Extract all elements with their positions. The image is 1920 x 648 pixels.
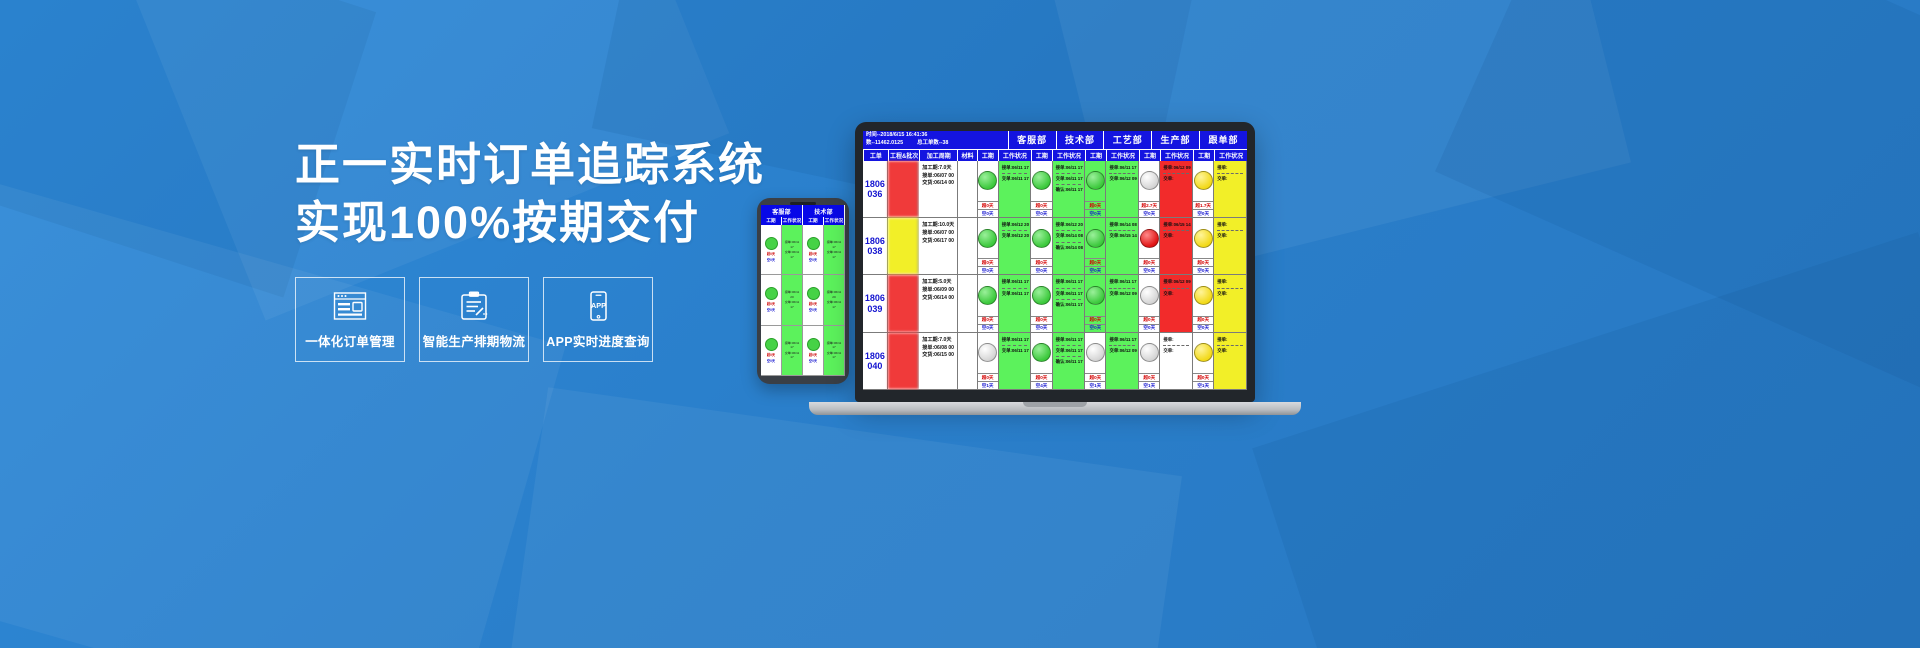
work-order-suffix: 036 [867,189,882,199]
project-batch-cell[interactable] [888,275,920,331]
table-row[interactable]: 1806038加工期:10.0天接单:06/07 00交货:06/17 00超0… [863,218,1247,275]
dept-status-cell[interactable]: 接单:06/11 17交单:06/12 09 [1106,275,1139,331]
note-separator [1056,345,1082,346]
dept-duration-cell[interactable]: 超0天空0天 [1193,218,1214,274]
dept-header-merchandising: 跟单部 [1199,131,1247,149]
over-tag: 超0天 [809,352,817,357]
status-indicator [1139,333,1159,373]
status-indicator [1193,275,1213,315]
over-tag: 超0天 [767,301,775,306]
dept-duration-cell[interactable]: 超0天空0天 [978,161,999,217]
dept-note: 交单:06/11 17 [1056,290,1085,298]
work-order-prefix: 1806 [865,179,885,189]
dept-duration-cell[interactable]: 超0天空1天 [1139,333,1160,389]
status-indicator [978,333,998,373]
dept-status-cell[interactable]: 接单:06/11 17交单:06/11 17 [999,161,1032,217]
dept-note: 接单:06/11 17 [1109,278,1138,286]
dept-status-cell[interactable]: 接单:06/11 17交单:06/11 17 [999,275,1032,331]
dept-note: 接单:06/11 17 [1002,278,1031,286]
note-separator [1056,230,1082,231]
idle-tag: 空1天 [978,381,998,389]
dept-note: 确认:06/11 17 [1056,186,1085,194]
dept-note: 接单:06/12 20 [1002,221,1031,229]
note-separator [1056,184,1082,185]
idle-tag: 空0天 [1085,209,1105,217]
dept-status-cell[interactable]: 接单:交单: [1214,161,1247,217]
note-separator [1109,230,1135,231]
dept-duration-cell[interactable]: 超0天空0天 [1139,218,1160,274]
dept-notes: 接单:06/12 20交单:06/14 08确认:06/14 08 [1053,218,1085,274]
overdue-tag: 超0天 [978,201,998,209]
dept-notes: 接单:06/12 20交单:06/12 20 [999,218,1031,274]
dept-note: 接单:06/11 17 [1002,164,1031,172]
phone-cell[interactable]: 接单:06/11 20交单:06/11 17 [782,275,802,325]
status-dot-green [807,338,820,351]
dept-duration-cell[interactable]: 超0天空4天 [1031,333,1052,389]
idle-tag: 空0天 [1193,266,1213,274]
dept-status-cell[interactable]: 接单:06/12 20交单:06/14 08确认:06/14 08 [1053,218,1086,274]
phone-dept: 客服部 [761,205,803,217]
note-separator [1217,345,1243,346]
status-indicator [1031,333,1051,373]
phone-cell[interactable]: 超0天空0天 [761,275,781,325]
dept-notes: 接单:06/11 17交单:06/11 17 [999,275,1031,331]
idle-tag: 空0天 [1139,209,1159,217]
feature-card-app-progress[interactable]: APP APP实时进度查询 [543,277,653,362]
dept-notes: 接单:06/14 08交单:06/15 14 [1106,218,1138,274]
status-dot-white [1140,286,1159,305]
dept-note: 交单:06/15 14 [1109,232,1138,240]
dept-status-cell[interactable]: 接单:06/12 20交单:06/12 20 [999,218,1032,274]
dept-duration-cell[interactable]: 超0天空0天 [1085,161,1106,217]
note-separator [1002,288,1028,289]
dept-note: 交单: [1217,290,1246,298]
dept-duration-cell[interactable]: 超0天空1天 [1193,333,1214,389]
idle-tag: 空0天 [1031,266,1051,274]
phone-cell[interactable]: 接单:06/11 20交单:06/11 17 [824,275,844,325]
phone-cell[interactable]: 超0天空0天 [803,275,823,325]
idle-tag: 空0天 [978,209,998,217]
dept-notes: 接单:交单: [1214,333,1246,389]
material-cell[interactable] [958,161,978,217]
over-tag: 超0天 [767,251,775,256]
col-header-duration: 工期 [977,149,998,161]
dept-notes: 接单:06/11 17交单:06/11 17确认:06/11 17 [1053,161,1085,217]
dept-duration-cell[interactable]: 超0天空0天 [1085,218,1106,274]
cycle-delivery: 交货:06/17 00 [922,238,955,246]
dept-note: 交单: [1163,175,1192,183]
note: 交单:06/11 17 [825,300,843,309]
dept-notes: 接单:交单: [1214,275,1246,331]
table-row[interactable]: 1806036加工期:7.0天接单:06/07 00交货:06/14 00超0天… [863,161,1247,218]
status-indicator [1085,218,1105,258]
note-separator [1056,299,1082,300]
status-dot-yellow [1194,171,1213,190]
note-separator [1056,173,1082,174]
cycle-delivery: 交货:06/14 00 [922,295,955,303]
status-dot-yellow [1194,229,1213,248]
overdue-tag: 超0天 [1085,373,1105,381]
dashboard-rows: 1806036加工期:7.0天接单:06/07 00交货:06/14 00超0天… [863,161,1247,390]
over-tag: 超0天 [767,352,775,357]
note-separator [1163,345,1189,346]
dept-status-cell[interactable]: 接单:06/11 17交单:06/11 17确认:06/11 17 [1053,161,1086,217]
dept-duration-cell[interactable]: 超0天空0天 [978,275,999,331]
window-layout-icon [333,290,367,322]
dept-note: 交单:06/11 17 [1056,347,1085,355]
work-order-cell[interactable]: 1806038 [863,218,888,274]
status-indicator [1085,275,1105,315]
status-dot-green [978,286,997,305]
cycle-cell[interactable]: 加工期:7.0天接单:06/07 00交货:06/14 00 [919,161,958,217]
dept-note: 交单: [1163,232,1192,240]
overdue-tag: 超0天 [1193,316,1213,324]
phone-dept-header: 客服部 技术部 [761,205,845,217]
dept-note: 交单: [1217,232,1246,240]
cycle-received: 接单:06/09 00 [922,287,955,295]
dept-note: 接单:06/12 09 [1163,278,1192,286]
note: 交单:06/11 17 [783,250,801,259]
note-separator [1163,173,1189,174]
cycle-cell[interactable]: 加工期:5.0天接单:06/09 00交货:06/14 00 [919,275,958,331]
dept-duration-cell[interactable]: 超0天空0天 [978,218,999,274]
status-dot-green [1032,171,1051,190]
overdue-tag: 超0天 [1139,258,1159,266]
status-indicator [1139,218,1159,258]
status-indicator [1193,333,1213,373]
work-order-cell[interactable]: 1806040 [863,333,888,389]
status-dot-red [1140,229,1159,248]
dept-status-cell[interactable]: 接单:06/11 17交单:06/11 17 [999,333,1032,389]
dept-note: 交单:06/12 09 [1109,175,1138,183]
phone-cell[interactable]: 超0天空0天 [761,225,781,275]
project-batch-cell[interactable] [888,218,920,274]
cycle-days: 加工期:10.0天 [922,222,955,230]
dept-status-cell[interactable]: 接单:06/12 09交单: [1160,275,1193,331]
idle-tag: 空1天 [1193,381,1213,389]
note-separator [1163,230,1189,231]
note-separator [1109,288,1135,289]
phone-mockup: 客服部 技术部 工期 工作状况 工期 工作状况 超0天空0天 超0天空0天 超0… [757,198,849,384]
idle-tag: 空4天 [1031,381,1051,389]
dept-duration-cell[interactable]: 超0天空0天 [1139,275,1160,331]
status-dot-yellow [1194,343,1213,362]
phone-cell[interactable]: 超0天空0天 [803,326,823,376]
dashboard-total-orders: 总工单数--38 [917,140,948,148]
dept-note: 接单:06/11 17 [1109,164,1138,172]
dept-note: 交单: [1217,175,1246,183]
overdue-tag: 超0天 [1031,258,1051,266]
dept-note: 接单:06/11 17 [1056,278,1085,286]
overdue-tag: 超0天 [1085,201,1105,209]
status-dot-white [1140,343,1159,362]
dept-note: 交单: [1163,347,1192,355]
dept-note: 接单: [1217,164,1246,172]
work-order-suffix: 040 [867,361,882,371]
dept-status-cell[interactable]: 接单:06/11 17交单:06/11 17确认:06/11 17 [1053,333,1086,389]
laptop-base [809,402,1301,415]
dept-note: 交单:06/14 08 [1056,232,1085,240]
dept-header-production: 生产部 [1151,131,1199,149]
dept-status-cell[interactable]: 接单:06/11 17交单:06/12 09 [1106,333,1139,389]
overdue-tag: 超0天 [1193,258,1213,266]
dept-note: 接单:06/14 08 [1109,221,1138,229]
mobile-app-icon: APP [581,290,615,322]
dept-duration-cell[interactable]: 超1.7天空0天 [1193,161,1214,217]
col-header-project-batch: 工程&批次 [888,149,920,161]
status-indicator [1139,161,1159,201]
note: 交单:06/11 17 [825,250,843,259]
col-header-duration: 工期 [1193,149,1214,161]
dept-status-cell[interactable]: 接单:交单: [1214,333,1247,389]
overdue-tag: 超0天 [1031,201,1051,209]
dept-header-technical: 技术部 [1056,131,1104,149]
overdue-tag: 超0天 [978,373,998,381]
dept-header-customer-service: 客服部 [1008,131,1056,149]
feature-label: 智能生产排期物流 [423,331,525,350]
work-order-prefix: 1806 [865,293,885,303]
table-row[interactable]: 1806039加工期:5.0天接单:06/09 00交货:06/14 00超0天… [863,275,1247,332]
status-indicator [1031,161,1051,201]
idle-tag: 空0天 [767,257,775,262]
note: 交单:06/11 17 [825,351,843,360]
phone-status-col: 接单:06/11 17交单:06/11 17 接单:06/11 20交单:06/… [824,225,845,376]
status-dot-green [1086,171,1105,190]
note: 接单:06/11 20 [825,290,843,299]
overdue-tag: 超0天 [1193,373,1213,381]
dept-duration-cell[interactable]: 超0天空1天 [1085,333,1106,389]
dept-notes: 接单:06/11 17交单:06/11 17确认:06/11 17 [1053,333,1085,389]
project-batch-cell[interactable] [888,333,920,389]
over-tag: 超0天 [809,251,817,256]
dept-note: 交单:06/11 17 [1002,175,1031,183]
dept-note: 交单:06/12 20 [1002,232,1031,240]
dept-status-cell[interactable]: 接单:06/12 09交单: [1160,161,1193,217]
cycle-received: 接单:06/07 00 [922,230,955,238]
dept-duration-cell[interactable]: 超0天空0天 [1031,161,1052,217]
note-separator [1217,230,1243,231]
status-dot-green [1086,229,1105,248]
dept-status-cell[interactable]: 接单:06/11 17交单:06/12 09 [1106,161,1139,217]
status-dot-green [765,338,778,351]
work-order-cell[interactable]: 1806039 [863,275,888,331]
note: 接单:06/11 20 [783,290,801,299]
dept-note: 确认:06/11 17 [1056,301,1085,309]
dept-notes: 接单:06/11 17交单:06/11 17 [999,161,1031,217]
dept-note: 接单:06/11 17 [1002,336,1031,344]
status-dot-yellow [1194,286,1213,305]
overdue-tag: 超0天 [1031,373,1051,381]
dept-note: 交单:06/12 09 [1109,290,1138,298]
status-indicator [1031,218,1051,258]
dept-notes: 接单:交单: [1214,161,1246,217]
dept-notes: 接单:06/11 17交单:06/12 09 [1106,161,1138,217]
dept-note: 接单:06/11 17 [1056,164,1085,172]
status-dot-green [765,237,778,250]
idle-tag: 空0天 [978,324,998,332]
dept-status-cell[interactable]: 接单:交单: [1214,218,1247,274]
dept-note: 接单:06/12 20 [1056,221,1085,229]
col-header-material: 材料 [957,149,977,161]
note: 接单:06/11 17 [783,240,801,249]
status-indicator [978,275,998,315]
dashboard-column-header: 工单 工程&批次 加工周期 材料 工期 工作状况 工期 工作状况 工期 工作状况… [863,149,1247,161]
status-dot-green [807,287,820,300]
work-order-cell[interactable]: 1806036 [863,161,888,217]
status-dot-white [1086,343,1105,362]
dept-duration-cell[interactable]: 超0天空0天 [1031,218,1052,274]
table-row[interactable]: 1806040加工期:7.0天接单:06/08 00交货:06/15 00超0天… [863,333,1247,390]
phone-col-header: 工作状况 [782,217,803,225]
phone-duration-col: 超0天空0天 超0天空0天 超0天空0天 [761,225,782,376]
dept-notes: 接单:交单: [1214,218,1246,274]
work-order-prefix: 1806 [865,351,885,361]
dept-duration-cell[interactable]: 超0天空1天 [978,333,999,389]
feature-label: 一体化订单管理 [305,331,395,350]
dept-notes: 接单:06/12 09交单: [1160,275,1192,331]
overdue-tag: 超2.7天 [1139,201,1159,209]
status-indicator [1031,275,1051,315]
note-separator [1217,288,1243,289]
note-separator [1002,230,1028,231]
dept-notes: 接单:06/15 14交单: [1160,218,1192,274]
cycle-delivery: 交货:06/14 00 [922,180,955,188]
note-separator [1056,356,1082,357]
status-dot-white [1140,171,1159,190]
status-dot-white [978,343,997,362]
dept-note: 接单:06/11 17 [1056,336,1085,344]
status-dot-green [807,237,820,250]
phone-col-header: 工期 [803,217,824,225]
dept-note: 交单:06/11 17 [1002,347,1031,355]
phone-cell[interactable]: 超0天空0天 [761,326,781,376]
idle-tag: 空0天 [767,358,775,363]
dept-status-cell[interactable]: 接单:06/15 14交单: [1160,218,1193,274]
dept-note: 交单:06/11 17 [1056,175,1085,183]
feature-card-production-scheduling[interactable]: 智能生产排期物流 [419,277,529,362]
idle-tag: 空0天 [978,266,998,274]
material-cell[interactable] [958,218,978,274]
laptop-mockup: 时间--2018/6/15 16:41:36 数--11462.0125 总工单… [855,122,1301,415]
dept-note: 接单: [1217,278,1246,286]
idle-tag: 空1天 [1085,381,1105,389]
dept-note: 接单:06/12 09 [1163,164,1192,172]
phone-cell[interactable]: 接单:06/11 17交单:06/11 17 [782,225,802,275]
status-dot-green [1032,286,1051,305]
phone-cell[interactable]: 接单:06/11 17交单:06/11 17 [824,326,844,376]
col-header-status: 工作状况 [1214,149,1247,161]
overdue-tag: 超1.7天 [1193,201,1213,209]
dept-note: 交单: [1163,290,1192,298]
col-header-duration: 工期 [1085,149,1106,161]
status-dot-green [1032,229,1051,248]
note-separator [1056,288,1082,289]
dept-duration-cell[interactable]: 超0天空0天 [1085,275,1106,331]
dept-duration-cell[interactable]: 超0天空0天 [1193,275,1214,331]
dept-duration-cell[interactable]: 超2.7天空0天 [1139,161,1160,217]
dept-note: 接单:06/15 14 [1163,221,1192,229]
idle-tag: 空0天 [1139,324,1159,332]
col-header-duration: 工期 [1031,149,1052,161]
phone-cell[interactable]: 超0天空0天 [803,225,823,275]
idle-tag: 空0天 [1193,324,1213,332]
dept-status-cell[interactable]: 接单:06/11 17交单:06/11 17确认:06/11 17 [1053,275,1086,331]
feature-label: APP实时进度查询 [546,331,649,350]
clipboard-icon [457,290,491,322]
project-batch-cell[interactable] [888,161,920,217]
dept-status-cell[interactable]: 接单:交单: [1160,333,1193,389]
note-separator [1002,345,1028,346]
svg-text:APP: APP [591,301,606,310]
status-dot-green [1086,286,1105,305]
col-header-work-order: 工单 [863,149,888,161]
status-indicator [1193,218,1213,258]
idle-tag: 空0天 [809,257,817,262]
overdue-tag: 超0天 [978,316,998,324]
idle-tag: 空0天 [1085,266,1105,274]
note: 接单:06/11 17 [825,341,843,350]
phone-duration-col: 超0天空0天 超0天空0天 超0天空0天 [803,225,824,376]
idle-tag: 空0天 [1031,209,1051,217]
status-indicator [978,161,998,201]
dept-status-cell[interactable]: 接单:06/14 08交单:06/15 14 [1106,218,1139,274]
overdue-tag: 超0天 [1139,373,1159,381]
dept-notes: 接单:06/11 17交单:06/11 17 [999,333,1031,389]
bg-polygon [1252,232,1920,648]
status-indicator [1085,161,1105,201]
idle-tag: 空0天 [809,307,817,312]
note: 交单:06/11 17 [783,351,801,360]
dept-status-cell[interactable]: 接单:交单: [1214,275,1247,331]
phone-cell[interactable]: 接单:06/11 17交单:06/11 17 [824,225,844,275]
idle-tag: 空0天 [809,358,817,363]
phone-dept: 技术部 [803,205,845,217]
phone-speaker [790,202,816,205]
status-indicator [1193,161,1213,201]
dept-header-process: 工艺部 [1103,131,1151,149]
status-indicator [1139,275,1159,315]
col-header-duration: 工期 [1139,149,1160,161]
dept-note: 确认:06/11 17 [1056,358,1085,366]
note-separator [1109,345,1135,346]
dept-note: 接单: [1163,336,1192,344]
phone-screen: 客服部 技术部 工期 工作状况 工期 工作状况 超0天空0天 超0天空0天 超0… [761,205,845,376]
work-order-suffix: 039 [867,304,882,314]
col-header-status: 工作状况 [1160,149,1193,161]
dashboard-time: 时间--2018/6/15 16:41:36 [866,132,1005,140]
overdue-tag: 超0天 [1139,316,1159,324]
phone-status-col: 接单:06/11 17交单:06/11 17 接单:06/11 20交单:06/… [782,225,803,376]
note-separator [1002,173,1028,174]
material-cell[interactable] [958,333,978,389]
idle-tag: 空0天 [1031,324,1051,332]
note-separator [1163,288,1189,289]
dept-duration-cell[interactable]: 超0天空0天 [1031,275,1052,331]
cycle-cell[interactable]: 加工期:7.0天接单:06/08 00交货:06/15 00 [919,333,958,389]
idle-tag: 空0天 [1085,324,1105,332]
overdue-tag: 超0天 [1031,316,1051,324]
cycle-cell[interactable]: 加工期:10.0天接单:06/07 00交货:06/17 00 [919,218,958,274]
phone-col-header: 工作状况 [824,217,845,225]
phone-col-header: 工期 [761,217,782,225]
feature-card-order-management[interactable]: 一体化订单管理 [295,277,405,362]
material-cell[interactable] [958,275,978,331]
note: 接单:06/11 17 [783,341,801,350]
note: 接单:06/11 17 [825,240,843,249]
overdue-tag: 超0天 [1085,316,1105,324]
phone-cell[interactable]: 接单:06/11 17交单:06/11 17 [782,326,802,376]
work-order-suffix: 038 [867,246,882,256]
